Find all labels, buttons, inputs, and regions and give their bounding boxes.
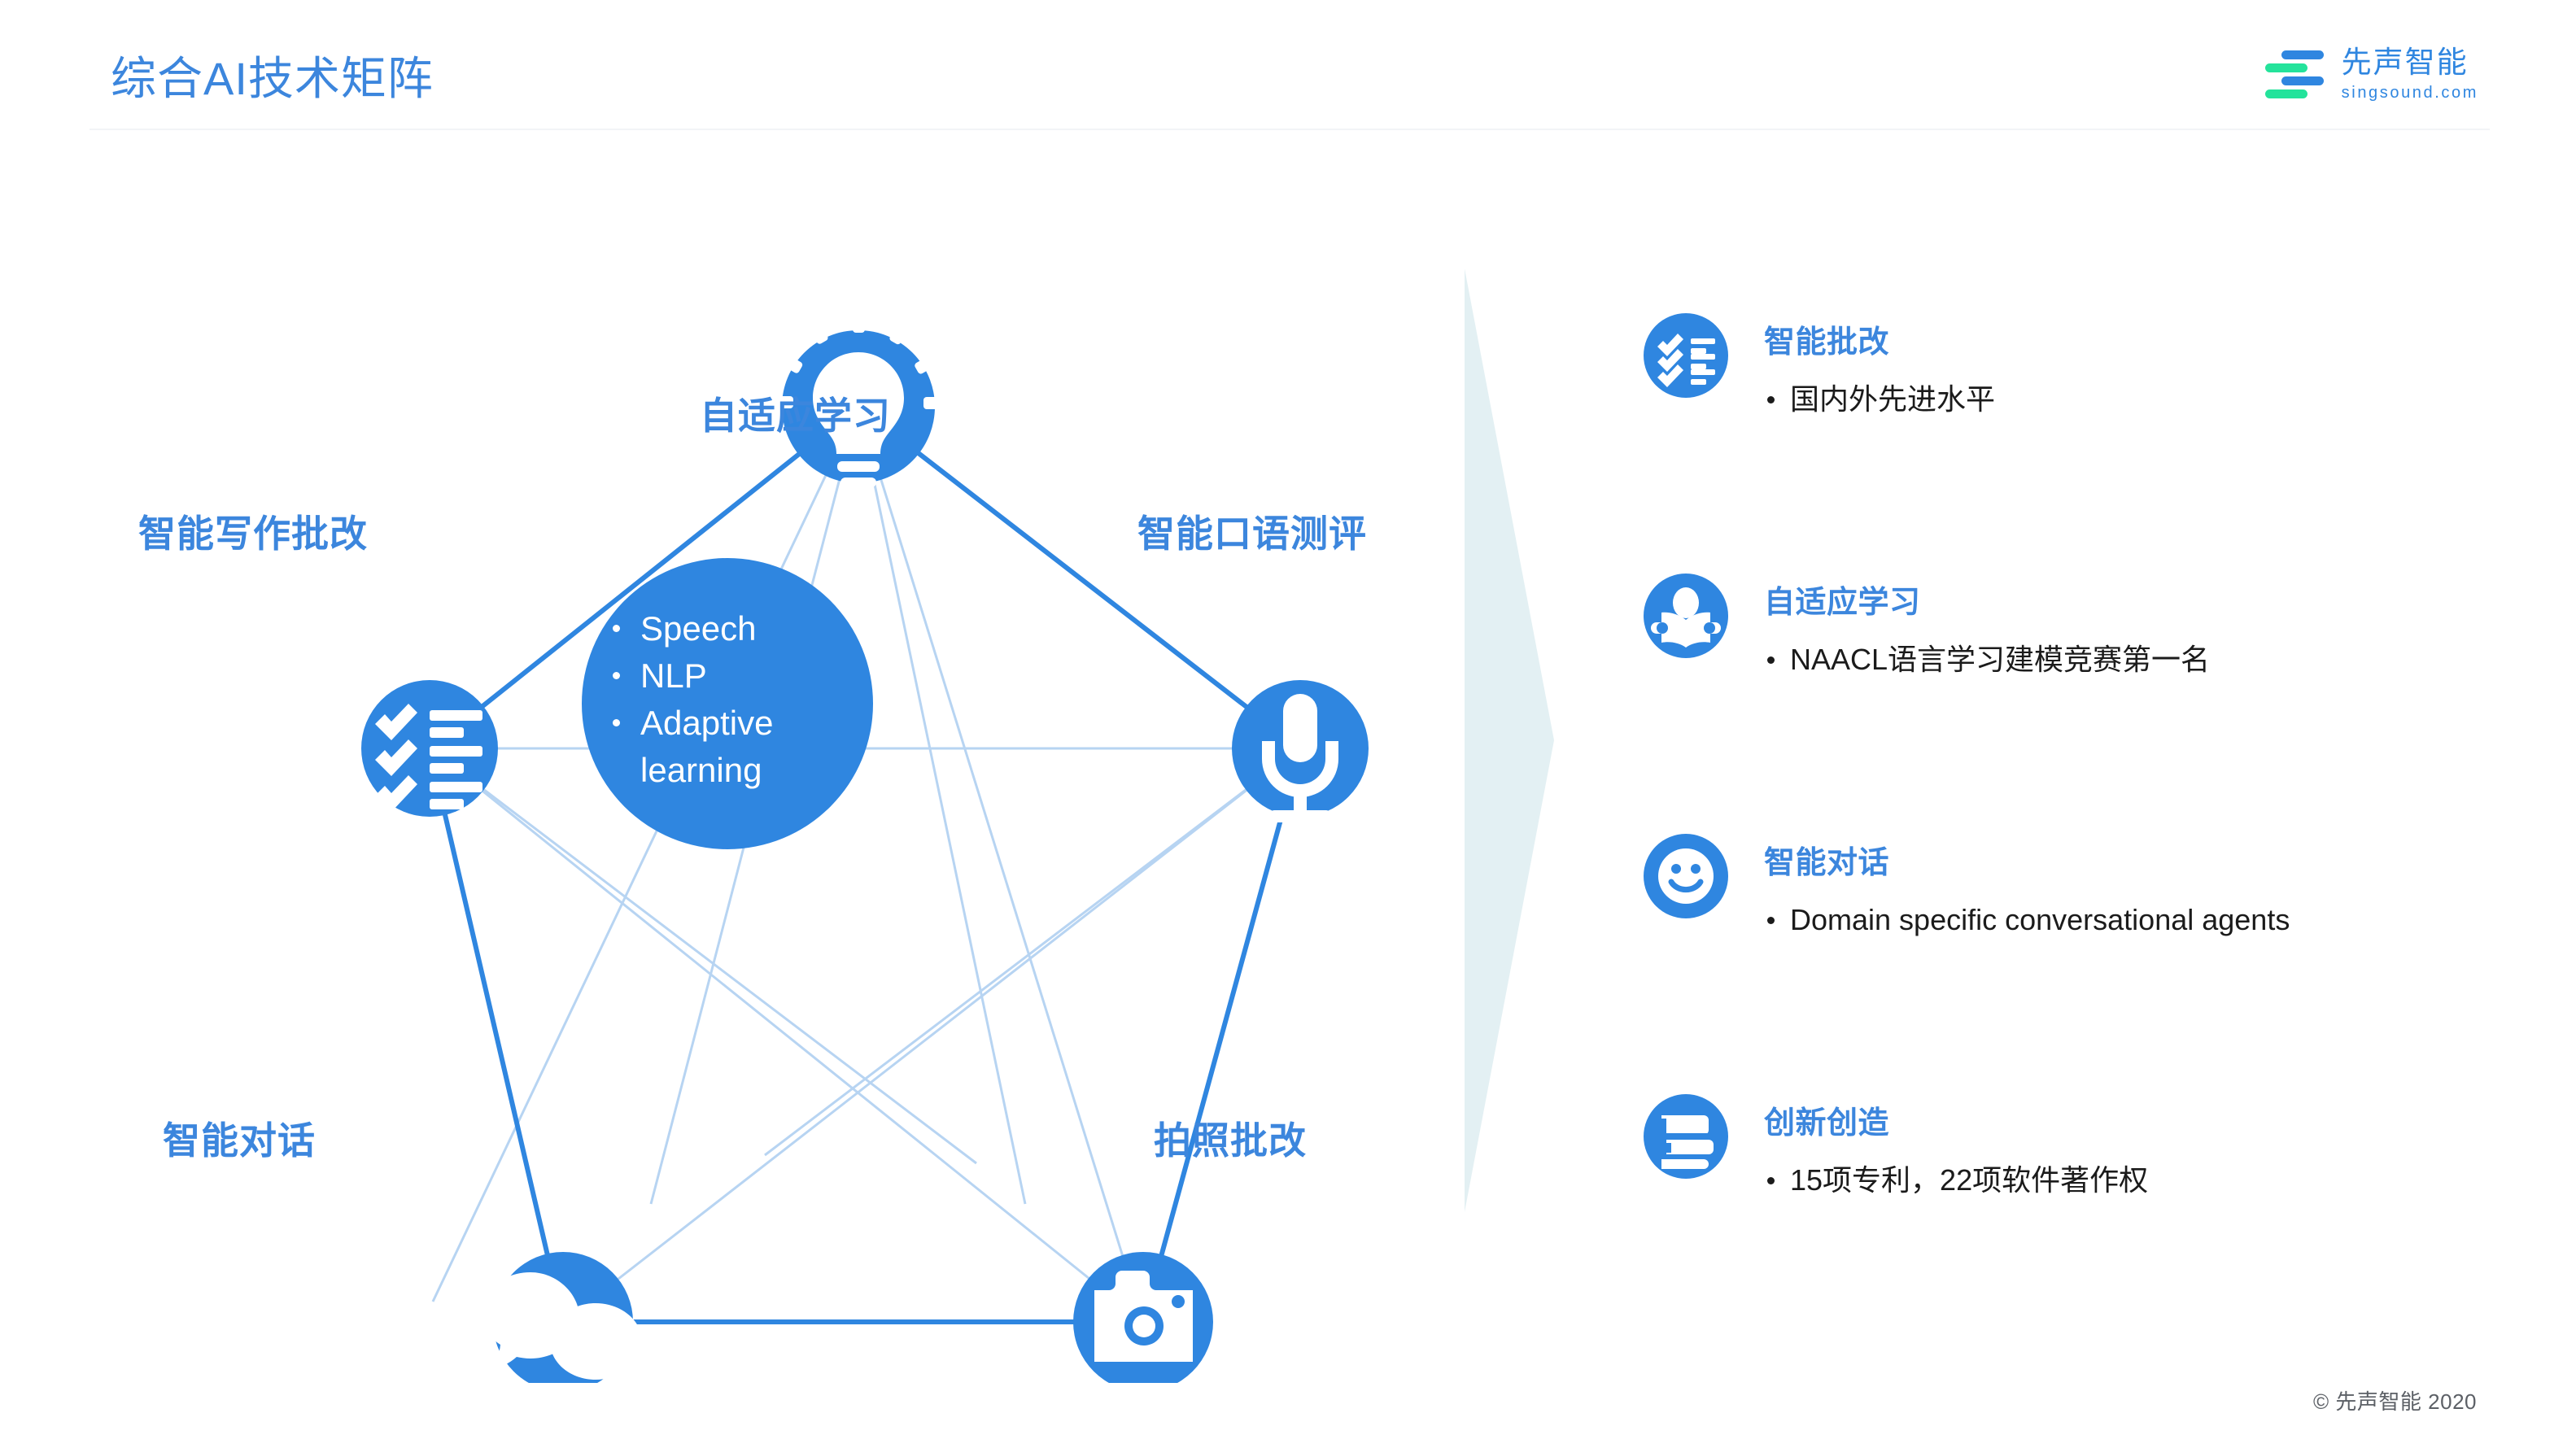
footer-copyright: © 先声智能 2020 bbox=[2313, 1385, 2477, 1415]
node-label-oral-assessment: 智能口语测评 bbox=[1137, 504, 1367, 558]
node-writing-grading[interactable] bbox=[361, 680, 498, 817]
feature-bullet: 15项专利，22项软件著作权 bbox=[1764, 1160, 2148, 1201]
feature-title: 智能批改 bbox=[1764, 316, 1995, 361]
feature-item-innovation[interactable]: 创新创造 15项专利，22项软件著作权 bbox=[1644, 1094, 2148, 1201]
header-divider bbox=[90, 129, 2490, 130]
logo-company-name: 先声智能 bbox=[2342, 47, 2478, 77]
stacked-books-icon bbox=[1644, 1094, 1728, 1179]
feature-title: 智能对话 bbox=[1764, 837, 2290, 882]
slide-header: 综合AI技术矩阵 先声智能 singsound.com bbox=[0, 0, 2576, 130]
brand-logo: 先声智能 singsound.com bbox=[2264, 47, 2478, 101]
node-label-adaptive-learning: 自适应学习 bbox=[700, 386, 891, 440]
feature-item-writing-grading[interactable]: 智能批改 国内外先进水平 bbox=[1644, 313, 1995, 420]
singsound-bars-icon bbox=[2264, 49, 2327, 99]
technology-matrix-diagram: 自适应学习 智能写作批改 智能口语测评 智能对话 拍照批改 Speech NLP… bbox=[244, 244, 1465, 1383]
node-label-writing-grading: 智能写作批改 bbox=[138, 504, 368, 558]
hub-bullet-speech: Speech bbox=[601, 605, 873, 652]
smiley-face-icon bbox=[1644, 834, 1728, 918]
page-title: 综合AI技术矩阵 bbox=[111, 42, 434, 108]
feature-title: 自适应学习 bbox=[1764, 577, 2210, 622]
person-reading-icon bbox=[1644, 574, 1728, 658]
node-label-smart-dialogue: 智能对话 bbox=[163, 1111, 316, 1165]
node-oral-assessment[interactable] bbox=[1232, 680, 1369, 822]
node-label-photo-grading: 拍照批改 bbox=[1154, 1111, 1307, 1165]
feature-bullet: NAACL语言学习建模竞赛第一名 bbox=[1764, 639, 2210, 680]
feature-bullet: 国内外先进水平 bbox=[1764, 379, 1995, 420]
node-photo-grading[interactable] bbox=[1073, 1252, 1213, 1383]
flow-arrow-icon bbox=[1458, 268, 1564, 1212]
feature-bullet: Domain specific conversational agents bbox=[1764, 900, 2290, 940]
center-hub-bullets: Speech NLP Adaptive learning bbox=[601, 605, 873, 794]
feature-item-adaptive-learning[interactable]: 自适应学习 NAACL语言学习建模竞赛第一名 bbox=[1644, 574, 2210, 680]
hub-bullet-adaptive: Adaptive learning bbox=[601, 700, 873, 794]
node-smart-dialogue[interactable] bbox=[482, 1252, 642, 1383]
feature-title: 创新创造 bbox=[1764, 1097, 2148, 1142]
center-hub: Speech NLP Adaptive learning bbox=[582, 558, 873, 849]
hub-bullet-nlp: NLP bbox=[601, 652, 873, 700]
feature-item-smart-dialogue[interactable]: 智能对话 Domain specific conversational agen… bbox=[1644, 834, 2290, 940]
checklist-icon bbox=[1644, 313, 1728, 398]
logo-domain: singsound.com bbox=[2342, 85, 2478, 101]
